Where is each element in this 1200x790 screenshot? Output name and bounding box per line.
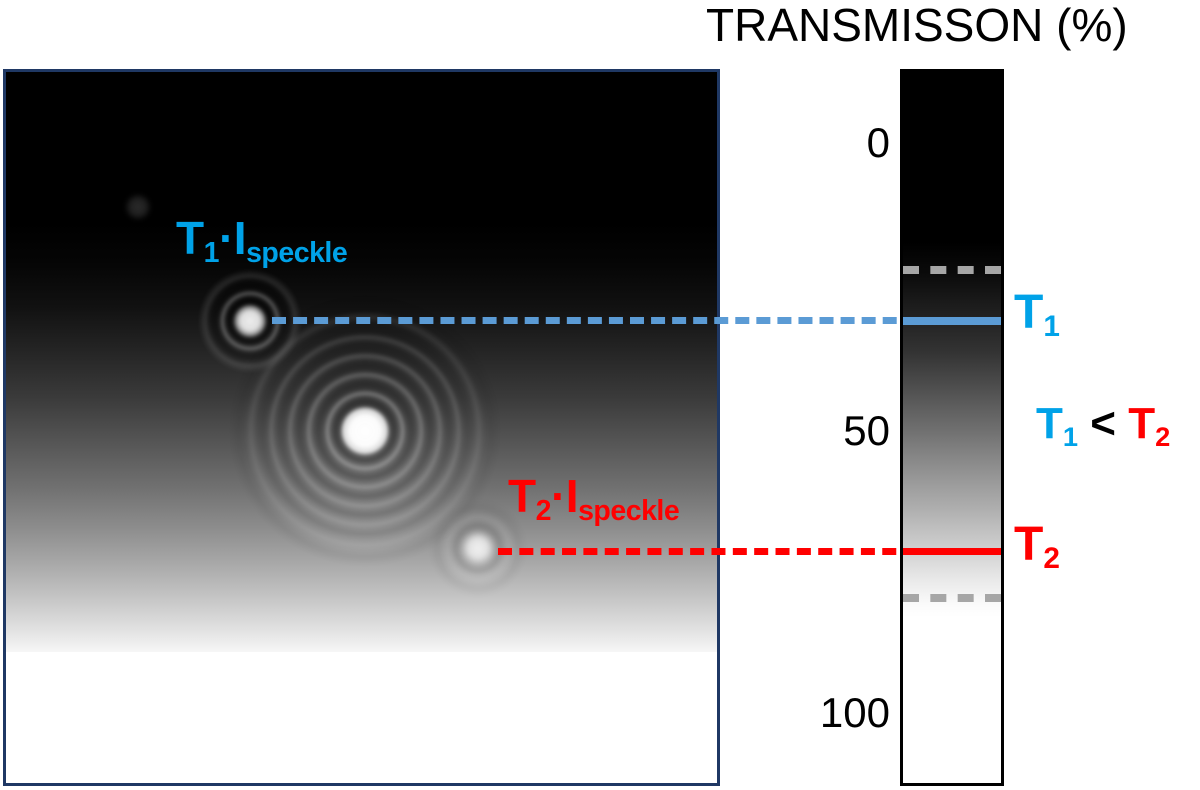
speckle-label-t1-subscript: 1	[204, 237, 219, 269]
colorbar-annotation-t2: T2	[1014, 520, 1060, 576]
colorbar-marker-t2	[903, 548, 1001, 555]
colorbar-gradient	[903, 72, 1001, 783]
colorbar-marker-gray-upper	[903, 266, 1001, 274]
comparison-t2-letter: T	[1128, 399, 1155, 448]
figure-title: TRANSMISSON (%)	[706, 0, 1128, 54]
colorbar-tick-100: 100	[780, 690, 890, 736]
speckle-image-panel	[3, 69, 720, 786]
colorbar-annotation-t2-subscript: 2	[1043, 542, 1060, 575]
speckle-label-t1-letter: T	[176, 212, 204, 264]
colorbar-marker-gray-lower	[903, 594, 1001, 602]
colorbar-annotation-t1-subscript: 1	[1043, 310, 1060, 343]
speckle-label-t1-subword: speckle	[246, 237, 347, 269]
comparison-t1-letter: T	[1036, 399, 1063, 448]
speckle-label-t2-dot: ·I	[551, 470, 578, 522]
colorbar-annotation-t1: T1	[1014, 288, 1060, 344]
speckle-label-t2: T2·Ispeckle	[508, 470, 679, 529]
comparison-operator: <	[1078, 399, 1128, 448]
speckle-label-t2-subscript: 2	[536, 495, 551, 527]
speckle-background-gradient	[6, 72, 717, 783]
colorbar-tick-50: 50	[790, 408, 890, 454]
speckle-label-t2-letter: T	[508, 470, 536, 522]
comparison-t1-subscript: 1	[1063, 421, 1078, 452]
colorbar-tick-0: 0	[790, 120, 890, 166]
comparison-t2-subscript: 2	[1155, 421, 1170, 452]
comparison-annotation: T1 < T2	[1036, 400, 1170, 453]
colorbar-annotation-t2-letter: T	[1014, 518, 1043, 571]
speckle-label-t2-subword: speckle	[578, 495, 679, 527]
colorbar-marker-t1	[903, 317, 1001, 325]
colorbar	[900, 69, 1004, 786]
speckle-label-t1: T1·Ispeckle	[176, 212, 347, 271]
speckle-label-t1-dot: ·I	[219, 212, 246, 264]
leader-line-t1	[272, 317, 1002, 324]
colorbar-annotation-t1-letter: T	[1014, 286, 1043, 339]
